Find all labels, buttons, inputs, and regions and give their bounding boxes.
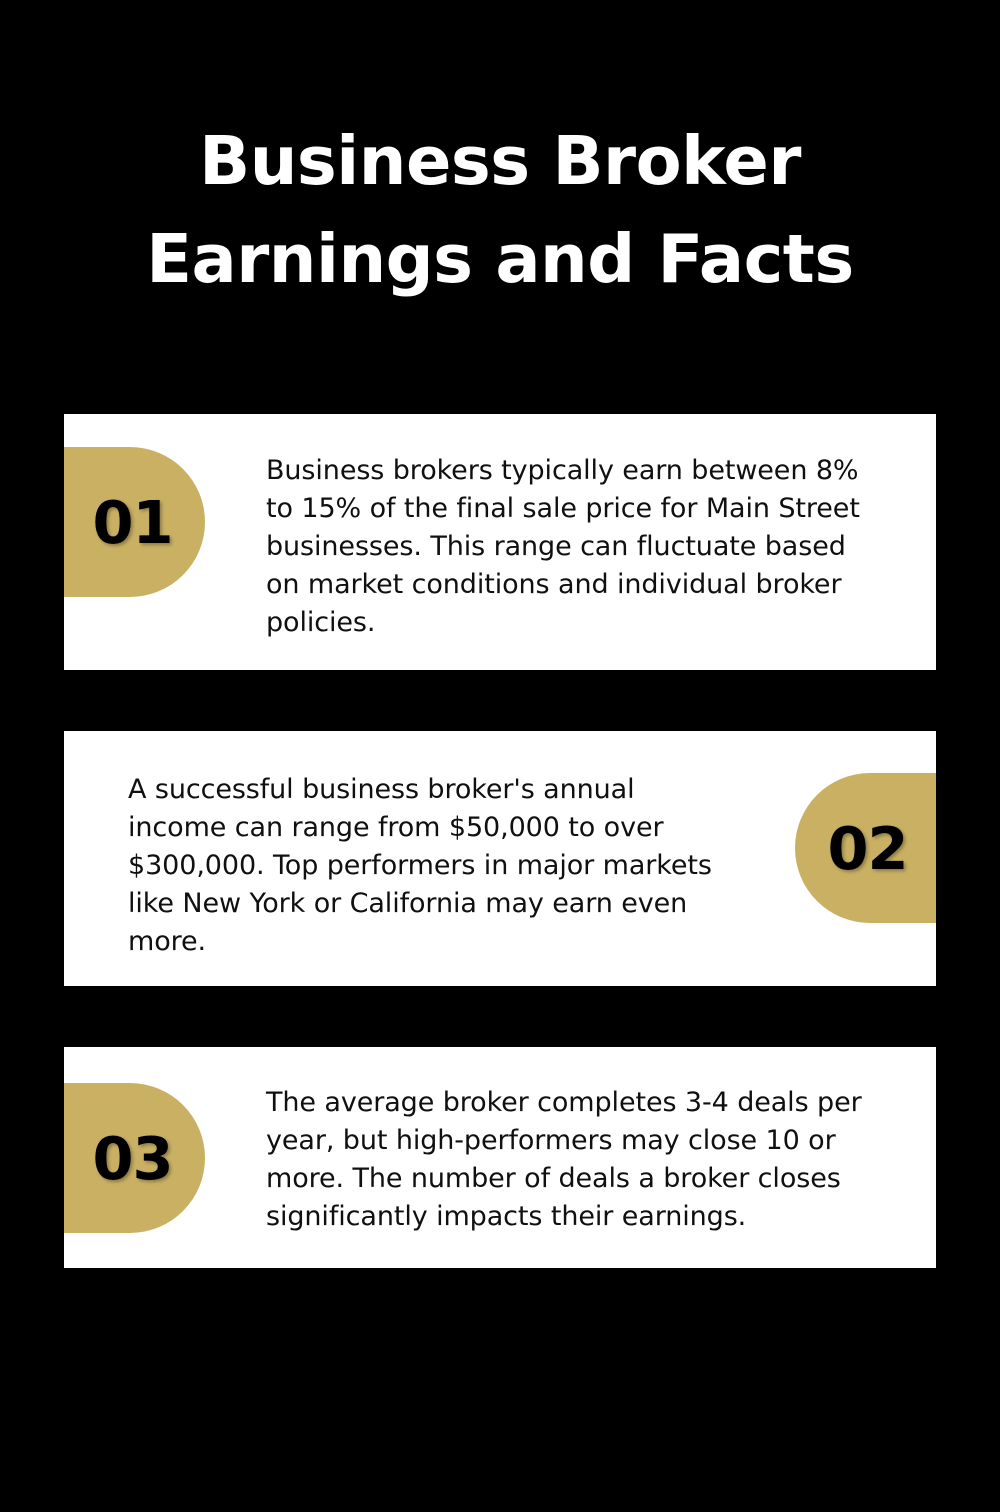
page-title: Business Broker Earnings and Facts — [0, 112, 1000, 308]
card-number-badge: 01 — [64, 447, 205, 597]
page-title-line-2: Earnings and Facts — [0, 210, 1000, 308]
fact-card-inner: 01 Business brokers typically earn betwe… — [64, 414, 936, 670]
card-number-badge: 03 — [64, 1083, 205, 1233]
fact-card: 03 The average broker completes 3-4 deal… — [64, 1047, 936, 1268]
card-number-label: 03 — [92, 1129, 172, 1188]
card-number-label: 02 — [827, 819, 907, 878]
card-body-text: Business brokers typically earn between … — [266, 452, 866, 642]
card-body-text: The average broker completes 3-4 deals p… — [266, 1084, 866, 1236]
card-number-badge: 02 — [795, 773, 936, 923]
fact-card: 02 A successful business broker's annual… — [64, 731, 936, 986]
page-title-line-1: Business Broker — [0, 112, 1000, 210]
fact-card-inner: 03 The average broker completes 3-4 deal… — [64, 1047, 936, 1268]
infographic-page: Business Broker Earnings and Facts 01 Bu… — [0, 0, 1000, 1512]
card-number-label: 01 — [92, 493, 172, 552]
card-body-text: A successful business broker's annual in… — [128, 771, 728, 961]
fact-card: 01 Business brokers typically earn betwe… — [64, 414, 936, 670]
fact-card-inner: 02 A successful business broker's annual… — [64, 731, 936, 986]
